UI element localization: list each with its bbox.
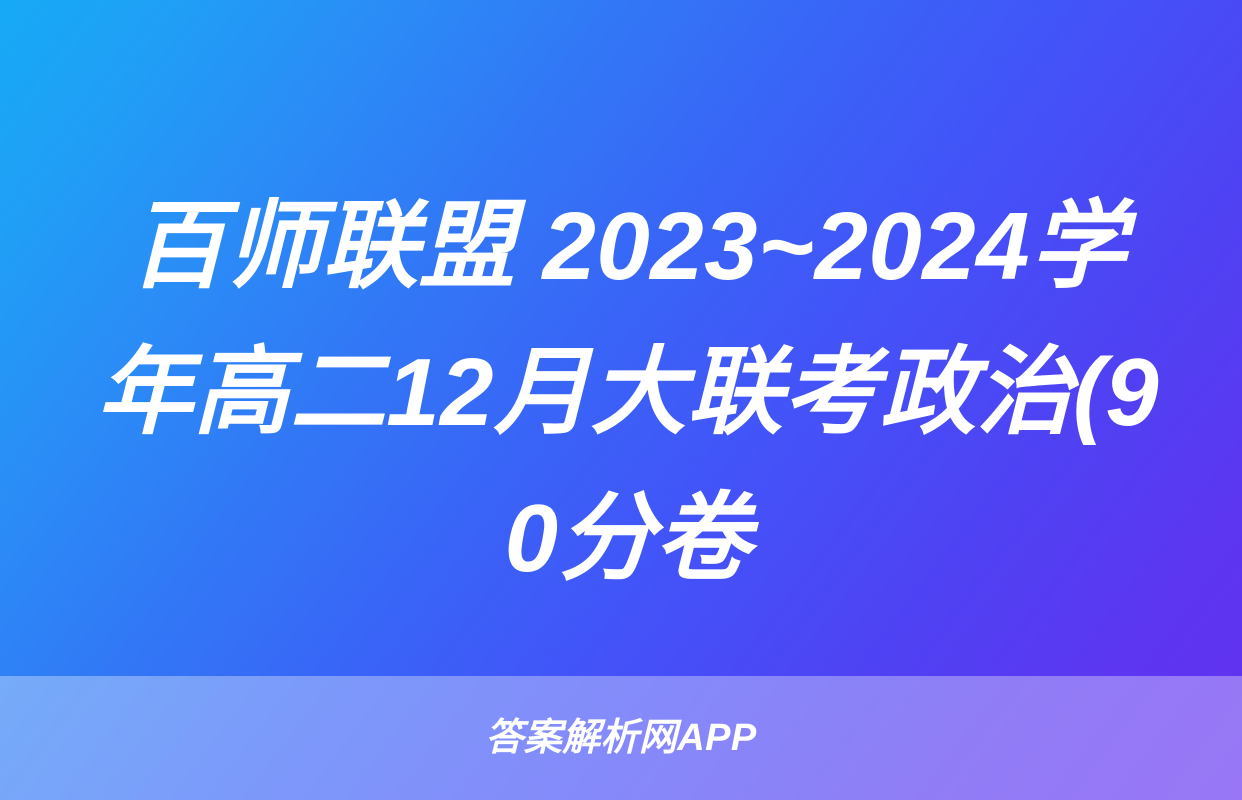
- page-title: 百师联盟 2023~2024学年高二12月大联考政治(90分卷: [84, 174, 1172, 612]
- footer-brand-label: 答案解析网APP: [485, 719, 756, 757]
- poster-canvas: 百师联盟 2023~2024学年高二12月大联考政治(90分卷 答案解析网APP: [0, 0, 1242, 800]
- footer-brand-band: 答案解析网APP: [0, 676, 1242, 800]
